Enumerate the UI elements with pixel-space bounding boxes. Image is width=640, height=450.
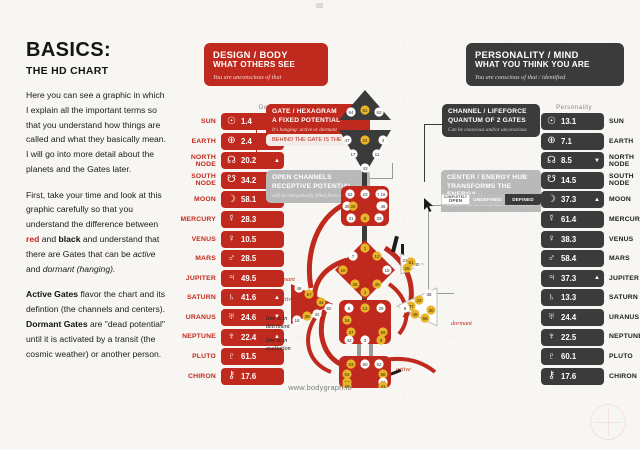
- personality-column-header: Personality: [541, 104, 607, 111]
- planet-jupiter-icon: ♃: [545, 273, 558, 283]
- leader-gate-v: [256, 118, 257, 156]
- planet-gate-value: 22.5: [561, 333, 576, 342]
- planet-gate-value: 7.1: [561, 137, 572, 146]
- planet-neptune-icon: ♆: [225, 332, 238, 342]
- planet-saturn-icon: ♄: [225, 293, 238, 303]
- planet-mercury-icon: ☿: [225, 214, 238, 224]
- para2-black-word: black: [59, 234, 81, 244]
- planet-uranus-icon: ♅: [225, 312, 238, 322]
- planet-north-node-icon: ☊: [225, 156, 238, 166]
- gate-number: 18: [294, 318, 300, 323]
- mouse-cursor: [424, 198, 434, 217]
- planet-label: NORTHNODE: [609, 154, 640, 168]
- planet-row[interactable]: ♂58.4MARS: [541, 250, 640, 267]
- center-definition-legend: COMPLETELY OPEN UNDEFINED DEFINED: [441, 194, 541, 205]
- footer-website: www.bodygraph.io: [0, 383, 640, 392]
- gate-number: 6: [404, 306, 407, 311]
- planet-gate-box[interactable]: ♄41.6▲: [221, 289, 284, 306]
- gate-number: 30: [428, 308, 434, 313]
- gate-number: 31: [348, 216, 354, 221]
- gate-number: 9: [380, 338, 383, 343]
- gate-number: 28: [304, 314, 310, 319]
- planet-gate-box[interactable]: ☉13.1: [541, 113, 604, 130]
- planet-gate-box[interactable]: ☿28.3: [221, 211, 284, 228]
- legend-open: COMPLETELY OPEN: [441, 194, 470, 205]
- planet-row[interactable]: ☿61.4MERCURY: [541, 211, 640, 228]
- planet-gate-box[interactable]: ♇60.1: [541, 348, 604, 365]
- intro-paragraph-3: Active Gates flavor the chart and its de…: [26, 287, 166, 361]
- planet-row[interactable]: ♆22.5NEPTUNE: [541, 329, 640, 346]
- callout-channel-note: Can be conscious and/or unconscious: [448, 127, 534, 133]
- leader-dormant: [246, 282, 270, 283]
- planet-label: SOUTHNODE: [609, 173, 640, 187]
- page-subtitle: THE HD CHART: [26, 65, 166, 77]
- gate-number: 55: [422, 316, 428, 321]
- planet-line-arrow-icon: ▲: [594, 197, 600, 203]
- planet-gate-value: 13.1: [561, 117, 576, 126]
- planet-label: MARS: [609, 255, 640, 262]
- planet-south-node-icon: ☋: [545, 175, 558, 185]
- para2-part-e: (hanging).: [74, 264, 115, 274]
- gate-number: 58: [380, 372, 386, 377]
- page-root: BASICS: THE HD CHART Here you can see a …: [0, 0, 640, 450]
- planet-gate-value: 22.4: [241, 333, 256, 342]
- planet-gate-box[interactable]: ♆22.5: [541, 329, 604, 346]
- planet-venus-icon: ♀: [225, 234, 238, 244]
- planet-mercury-icon: ☿: [545, 214, 558, 224]
- planet-label: CHIRON: [172, 373, 216, 380]
- planet-label: MERCURY: [609, 216, 640, 223]
- intro-paragraph-1: Here you can see a graphic in which I ex…: [26, 88, 166, 177]
- planet-saturn-icon: ♄: [545, 293, 558, 303]
- gate-number: 16: [380, 192, 386, 197]
- gate-number: 22: [416, 298, 422, 303]
- banner-design-line1: DESIGN / BODY: [213, 49, 319, 60]
- planet-row[interactable]: ♃37.3▲JUPITER: [541, 270, 640, 287]
- planet-gate-value: 8.5: [561, 156, 572, 165]
- gate-number: 62: [347, 192, 353, 197]
- gate-number: 3: [364, 338, 367, 343]
- annotation-dormant-2: dormant: [451, 320, 472, 328]
- gate-number: 60: [362, 362, 368, 367]
- planet-gate-value: 58.1: [241, 195, 256, 204]
- para2-italic-active: active: [133, 249, 155, 259]
- gate-number: 53: [348, 362, 354, 367]
- planet-line-arrow-icon: ▼: [594, 158, 600, 164]
- gate-number: 24: [362, 138, 368, 143]
- planet-row[interactable]: ♀38.3VENUS: [541, 231, 640, 248]
- legend-undefined: UNDEFINED: [470, 194, 505, 205]
- planet-mars-icon: ♂: [225, 254, 238, 264]
- planet-gate-box[interactable]: ♂28.5: [221, 250, 284, 267]
- callout-center-energy-hub: CENTER / ENERGY HUB TRANSFORMS THE ENERG…: [441, 170, 541, 212]
- planet-gate-value: 37.3: [561, 274, 576, 283]
- planet-north-node-icon: ☊: [545, 156, 558, 166]
- planet-gate-box[interactable]: ☽37.3▲: [541, 191, 604, 208]
- para2-red-word: red: [26, 234, 39, 244]
- left-text-panel: BASICS: THE HD CHART Here you can see a …: [26, 40, 166, 361]
- planet-row[interactable]: ⊕7.1EARTH: [541, 133, 640, 150]
- planet-gate-value: 38.3: [561, 235, 576, 244]
- center-head: [339, 90, 391, 120]
- para2-part-d: and: [26, 264, 43, 274]
- callout-channel-lifeforce: CHANNEL / LIFEFORCE QUANTUM OF 2 GATES C…: [442, 104, 540, 137]
- planet-gate-value: 10.5: [241, 235, 256, 244]
- planet-gate-value: 24.4: [561, 313, 576, 322]
- planet-label: EARTH: [609, 138, 640, 145]
- gate-number: 8: [364, 216, 367, 221]
- gate-number: 49: [412, 312, 418, 317]
- planet-south-node-icon: ☋: [225, 175, 238, 185]
- gate-number: 57: [306, 292, 312, 297]
- dormant-gates-term: Dormant Gates: [26, 319, 88, 329]
- planet-label: URANUS: [172, 314, 216, 321]
- planet-gate-value: 1.4: [241, 117, 252, 126]
- leader-gate-h: [256, 118, 266, 119]
- planet-label: NEPTUNE: [172, 333, 216, 340]
- planet-label: MOON: [609, 196, 640, 203]
- planet-gate-value: 13.3: [561, 293, 576, 302]
- gate-number: 11: [375, 152, 380, 157]
- planet-label: EARTH: [172, 138, 216, 145]
- gate-number: 63: [376, 110, 382, 115]
- watermark-logo: [590, 404, 626, 440]
- gate-number: 5: [348, 306, 351, 311]
- planet-venus-icon: ♀: [545, 234, 558, 244]
- planet-earth-icon: ⊕: [225, 136, 238, 146]
- planet-uranus-icon: ♅: [545, 312, 558, 322]
- page-title: BASICS:: [26, 40, 166, 60]
- planet-label: PLUTO: [172, 353, 216, 360]
- gate-number: 27: [348, 330, 354, 335]
- para2-part-b: and: [39, 234, 58, 244]
- planet-row[interactable]: ☋14.5SOUTHNODE: [541, 172, 640, 189]
- planet-label: VENUS: [609, 236, 640, 243]
- gate-number: 59: [380, 330, 386, 335]
- gate-number: 52: [376, 362, 382, 367]
- para2-italic-dormant: dormant: [43, 264, 75, 274]
- planet-label: JUPITER: [609, 275, 640, 282]
- callout-channel-title: CHANNEL / LIFEFORCE QUANTUM OF 2 GATES: [448, 108, 534, 125]
- planet-gate-value: 37.3: [561, 195, 576, 204]
- planet-gate-value: 17.6: [561, 372, 576, 381]
- planet-gate-value: 28.5: [241, 254, 256, 263]
- gate-number: 10: [340, 268, 346, 273]
- planet-gate-box[interactable]: ☊8.5▼: [541, 152, 604, 169]
- planet-label: SUN: [172, 118, 216, 125]
- gate-number: 26: [404, 266, 410, 271]
- gate-number: 54: [344, 372, 350, 377]
- gate-number: 1: [364, 246, 367, 251]
- planet-gate-value: 61.5: [241, 352, 256, 361]
- gate-number: 44: [318, 300, 324, 305]
- planet-gate-value: 34.2: [241, 176, 256, 185]
- planet-label: MERCURY: [172, 216, 216, 223]
- leader-detriment: [245, 322, 246, 324]
- planet-moon-icon: ☽: [545, 195, 558, 205]
- gate-number: 45: [380, 204, 386, 209]
- planet-row[interactable]: ♇60.1PLUTO: [541, 348, 640, 365]
- active-gates-term: Active Gates: [26, 289, 78, 299]
- gate-number: 51: [408, 260, 414, 265]
- planet-gate-value: 14.5: [561, 176, 576, 185]
- gate-number: 61: [362, 108, 368, 113]
- planet-gate-box[interactable]: ☿61.4: [541, 211, 604, 228]
- gate-number: 2: [364, 290, 367, 295]
- gate-number: 23: [362, 192, 368, 197]
- gate-number: 20: [350, 204, 356, 209]
- banner-design-body: DESIGN / BODY WHAT OTHERS SEE You are un…: [204, 43, 328, 86]
- planet-pluto-icon: ♇: [225, 352, 238, 362]
- planet-label: JUPITER: [172, 275, 216, 282]
- gate-number: 47: [344, 138, 350, 143]
- bodygraph-svg: 6461634724417431162235635124516203183311…: [285, 88, 445, 388]
- banner-personality-mind: PERSONALITY / MIND WHAT YOU THINK YOU AR…: [466, 43, 624, 86]
- para2-part-a: First, take your time and look at this g…: [26, 190, 162, 230]
- gate-number: 25: [352, 282, 358, 287]
- planet-label: NORTHNODE: [172, 154, 216, 168]
- gate-number: 46: [374, 282, 380, 287]
- planet-gate-value: 20.2: [241, 156, 256, 165]
- planet-gate-value: 17.6: [241, 372, 256, 381]
- leader-active: [246, 300, 276, 301]
- planet-mars-icon: ♂: [545, 254, 558, 264]
- planet-jupiter-icon: ♃: [225, 273, 238, 283]
- planet-gate-value: 28.3: [241, 215, 256, 224]
- planet-label: SOUTHNODE: [172, 173, 216, 187]
- planet-gate-box[interactable]: ☊20.2▲: [221, 152, 284, 169]
- legend-open-label: OPEN: [449, 199, 463, 204]
- planet-gate-box[interactable]: ♀38.3: [541, 231, 604, 248]
- banner-design-note: You are unconscious of that: [213, 74, 319, 81]
- page-top-mark: [316, 3, 323, 8]
- gate-number: 48: [296, 286, 302, 291]
- planet-label: CHIRON: [609, 373, 640, 380]
- planet-label: URANUS: [609, 314, 640, 321]
- planet-gate-box[interactable]: ♂58.4: [541, 250, 604, 267]
- planet-earth-icon: ⊕: [545, 136, 558, 146]
- planet-label: PLUTO: [609, 353, 640, 360]
- planet-chiron-icon: ⚷: [225, 371, 238, 381]
- planet-sun-icon: ☉: [545, 117, 558, 127]
- planet-row[interactable]: ♄13.3SATURN: [541, 289, 640, 306]
- gate-number: 4: [382, 138, 385, 143]
- gate-number: 14: [362, 306, 368, 311]
- planet-gate-value: 58.4: [561, 254, 576, 263]
- planet-gate-box[interactable]: ♀10.5: [221, 231, 284, 248]
- planet-line-arrow-icon: ▲: [594, 275, 600, 281]
- planet-label: VENUS: [172, 236, 216, 243]
- personality-planet-column: Personality ☉13.1SUN⊕7.1EARTH☊8.5▼NORTHN…: [541, 104, 640, 387]
- planet-row[interactable]: ♅24.4URANUS: [541, 309, 640, 326]
- planet-row[interactable]: ☽37.3▲MOON: [541, 191, 640, 208]
- planet-label: MARS: [172, 255, 216, 262]
- gate-number: 13: [374, 254, 380, 259]
- planet-gate-box[interactable]: ⊕7.1: [541, 133, 604, 150]
- planet-neptune-icon: ♆: [545, 332, 558, 342]
- gate-number: 15: [384, 268, 390, 273]
- planet-label: NEPTUNE: [609, 333, 640, 340]
- banner-personality-note: You are conscious of that / identified: [475, 74, 615, 81]
- intro-paragraph-2: First, take your time and look at this g…: [26, 188, 166, 277]
- planet-gate-box[interactable]: ☋14.5: [541, 172, 604, 189]
- banner-design-line2: WHAT OTHERS SEE: [213, 60, 319, 70]
- planet-line-arrow-icon: ▲: [274, 158, 280, 164]
- planet-label: SUN: [609, 118, 640, 125]
- gate-number: 64: [348, 110, 354, 115]
- planet-label: SATURN: [172, 294, 216, 301]
- planet-gate-value: 60.1: [561, 352, 576, 361]
- planet-row[interactable]: ☊8.5▼NORTHNODE: [541, 152, 640, 169]
- planet-row[interactable]: ☉13.1SUN: [541, 113, 640, 130]
- gate-number: 33: [376, 216, 382, 221]
- planet-sun-icon: ☉: [225, 117, 238, 127]
- planet-label: MOON: [172, 196, 216, 203]
- gate-number: 43: [362, 166, 368, 171]
- planet-pluto-icon: ♇: [545, 352, 558, 362]
- planet-gate-box[interactable]: ♃37.3▲: [541, 270, 604, 287]
- personality-rows: ☉13.1SUN⊕7.1EARTH☊8.5▼NORTHNODE☋14.5SOUT…: [541, 113, 640, 385]
- planet-gate-box[interactable]: ♄13.3: [541, 289, 604, 306]
- gate-number: 34: [344, 318, 350, 323]
- gate-number: 42: [346, 338, 352, 343]
- planet-gate-value: 2.4: [241, 137, 252, 146]
- gate-number: 7: [352, 254, 355, 259]
- planet-chiron-icon: ⚷: [545, 371, 558, 381]
- legend-defined: DEFINED: [505, 194, 541, 205]
- gate-number: 17: [350, 152, 356, 157]
- bodygraph-diagram: 6461634724417431162235635124516203183311…: [285, 88, 445, 388]
- gate-number: 29: [378, 306, 384, 311]
- gate-number: 36: [426, 292, 432, 297]
- planet-moon-icon: ☽: [225, 195, 238, 205]
- planet-label: SATURN: [609, 294, 640, 301]
- gate-number: 32: [314, 312, 320, 317]
- planet-gate-value: 61.4: [561, 215, 576, 224]
- planet-gate-box[interactable]: ♅24.4: [541, 309, 604, 326]
- gate-number: 50: [326, 306, 332, 311]
- banner-personality-line2: WHAT YOU THINK YOU ARE: [475, 60, 615, 70]
- planet-gate-value: 24.6: [241, 313, 256, 322]
- banner-personality-line1: PERSONALITY / MIND: [475, 49, 615, 60]
